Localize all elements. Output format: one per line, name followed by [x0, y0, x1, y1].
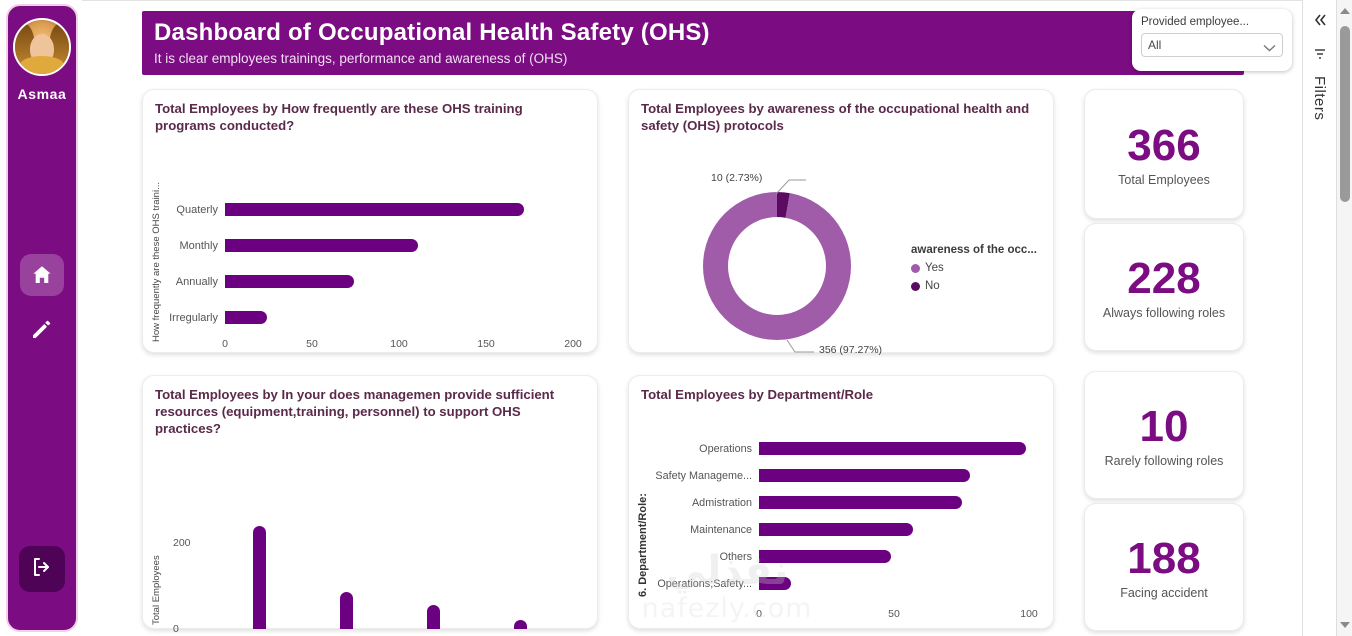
bar-category-label: Monthly — [143, 240, 225, 252]
chart-plot-area: How frequently are these OHS traini... T… — [143, 134, 597, 396]
legend-swatch — [911, 282, 920, 291]
chart-card-management-resources[interactable]: Total Employees by In your does manageme… — [142, 375, 598, 629]
page-title: Dashboard of Occupational Health Safety … — [148, 19, 1244, 47]
bar-row[interactable]: Others — [629, 549, 1039, 564]
x-axis-tick: 0 — [222, 338, 228, 350]
chart-title: Total Employees by In your does manageme… — [143, 376, 597, 437]
sidebar: Asmaa — [6, 4, 78, 632]
kpi-label: Rarely following roles — [1105, 454, 1224, 468]
bar[interactable] — [759, 550, 891, 563]
bar[interactable] — [759, 496, 962, 509]
column-bar[interactable] — [427, 605, 440, 629]
legend-label: Yes — [925, 262, 944, 274]
column-bar[interactable] — [340, 592, 353, 629]
bar-row[interactable]: Irregularly — [143, 310, 583, 325]
bar-category-label: Maintenance — [629, 524, 759, 536]
bar-row[interactable]: Admistration — [629, 495, 1039, 510]
chevron-down-icon — [1263, 41, 1276, 49]
vertical-scrollbar[interactable] — [1336, 0, 1352, 636]
bar[interactable] — [225, 275, 354, 288]
y-axis-title: Total Employees — [151, 529, 162, 625]
kpi-card-facing-accident[interactable]: 188 Facing accident — [1084, 503, 1244, 631]
kpi-card-always-following-roles[interactable]: 228 Always following roles — [1084, 223, 1244, 351]
x-axis-tick: 100 — [390, 338, 408, 350]
x-axis-tick: 50 — [888, 608, 900, 620]
kpi-label: Total Employees — [1118, 173, 1210, 187]
donut-hole — [728, 217, 826, 315]
bar[interactable] — [225, 203, 524, 216]
bar-row[interactable]: Quaterly — [143, 202, 583, 217]
scroll-down-arrow-icon[interactable] — [1340, 622, 1350, 628]
bar-row[interactable]: Operations;Safety... — [629, 576, 1039, 591]
logout-icon — [30, 555, 54, 584]
sidebar-item-home[interactable] — [20, 254, 64, 296]
bar-category-label: Operations — [629, 443, 759, 455]
filters-label: Filters — [1311, 76, 1328, 120]
bar-category-label: Annually — [143, 276, 225, 288]
bar[interactable] — [759, 469, 970, 482]
bar-row[interactable]: Monthly — [143, 238, 583, 253]
bar-category-label: Safety Manageme... — [629, 470, 759, 482]
home-icon — [30, 263, 54, 287]
chart-plot-area: 10 (2.73%) 356 (97.27%) awareness of the… — [629, 134, 1053, 396]
bar-row[interactable]: Maintenance — [629, 522, 1039, 537]
chart-legend: awareness of the occ... Yes No — [911, 244, 1037, 298]
bar-category-label: Irregularly — [143, 312, 225, 324]
legend-swatch — [911, 264, 920, 273]
bar-row[interactable]: Annually — [143, 274, 583, 289]
column-bar[interactable] — [514, 620, 527, 629]
legend-label: No — [925, 280, 940, 292]
kpi-label: Facing accident — [1120, 586, 1208, 600]
kpi-label: Always following roles — [1103, 306, 1225, 320]
bar-row[interactable]: Safety Manageme... — [629, 468, 1039, 483]
filters-panel: Filters — [1302, 0, 1336, 636]
y-axis-tick: 0 — [173, 623, 179, 635]
chart-title: Total Employees by awareness of the occu… — [629, 90, 1053, 134]
bar-category-label: Others — [629, 551, 759, 563]
donut-label-yes: 356 (97.27%) — [819, 344, 882, 356]
filter-icon[interactable] — [1313, 47, 1327, 66]
bar[interactable] — [759, 523, 913, 536]
bar[interactable] — [225, 239, 418, 252]
sidebar-item-edit[interactable] — [20, 308, 64, 350]
bar-category-label: Admistration — [629, 497, 759, 509]
donut-label-no: 10 (2.73%) — [711, 172, 762, 184]
pencil-icon — [30, 317, 54, 341]
avatar — [13, 18, 71, 76]
logout-button[interactable] — [19, 546, 65, 592]
bar[interactable] — [759, 442, 1026, 455]
kpi-value: 366 — [1127, 121, 1200, 171]
chart-card-ohs-awareness[interactable]: Total Employees by awareness of the occu… — [628, 89, 1054, 353]
bar[interactable] — [225, 311, 267, 324]
bar-row[interactable]: Operations — [629, 441, 1039, 456]
bar-category-label: Operations;Safety... — [629, 578, 759, 590]
kpi-card-total-employees[interactable]: 366 Total Employees — [1084, 89, 1244, 219]
x-axis-tick: 50 — [306, 338, 318, 350]
scrollbar-thumb[interactable] — [1340, 26, 1350, 202]
kpi-value: 188 — [1127, 534, 1200, 584]
page-subtitle: It is clear employees trainings, perform… — [148, 49, 1244, 69]
column-bar[interactable] — [253, 526, 266, 629]
x-axis-tick: 0 — [756, 608, 762, 620]
kpi-card-rarely-following-roles[interactable]: 10 Rarely following roles — [1084, 371, 1244, 499]
x-axis-tick: 150 — [477, 338, 495, 350]
slicer-title: Provided employee... — [1141, 16, 1283, 28]
chart-card-training-frequency[interactable]: Total Employees by How frequently are th… — [142, 89, 598, 353]
legend-item-yes[interactable]: Yes — [911, 262, 1037, 274]
chevron-double-left-icon[interactable] — [1312, 12, 1328, 33]
legend-title: awareness of the occ... — [911, 244, 1037, 256]
chart-title: Total Employees by Department/Role — [629, 376, 1053, 403]
dashboard-app: Asmaa — [0, 0, 1352, 636]
donut-ring[interactable] — [703, 192, 851, 340]
slicer-provided-employee[interactable]: Provided employee... All — [1132, 9, 1292, 71]
chart-title: Total Employees by How frequently are th… — [143, 90, 597, 134]
x-axis-tick: 100 — [1020, 608, 1038, 620]
page-header: Dashboard of Occupational Health Safety … — [142, 11, 1244, 75]
bar-category-label: Quaterly — [143, 204, 225, 216]
kpi-value: 228 — [1127, 254, 1200, 304]
chart-card-department-role[interactable]: Total Employees by Department/Role 6. De… — [628, 375, 1054, 629]
scroll-up-arrow-icon[interactable] — [1340, 8, 1350, 14]
slicer-value: All — [1148, 38, 1161, 52]
chart-plot-area: 6. Department/Role: Total Employees Oper… — [629, 403, 1053, 636]
legend-item-no[interactable]: No — [911, 280, 1037, 292]
x-axis-tick: 200 — [564, 338, 582, 350]
y-axis-tick: 200 — [173, 537, 191, 549]
y-axis-title: 6. Department/Role: — [637, 437, 649, 597]
slicer-dropdown[interactable]: All — [1141, 33, 1283, 57]
report-canvas: Dashboard of Occupational Health Safety … — [82, 0, 1318, 636]
chart-plot-area: Total Employees In your does managemen p… — [143, 437, 597, 636]
bar[interactable] — [759, 577, 791, 590]
kpi-value: 10 — [1140, 402, 1189, 452]
sidebar-user-name: Asmaa — [18, 86, 67, 102]
